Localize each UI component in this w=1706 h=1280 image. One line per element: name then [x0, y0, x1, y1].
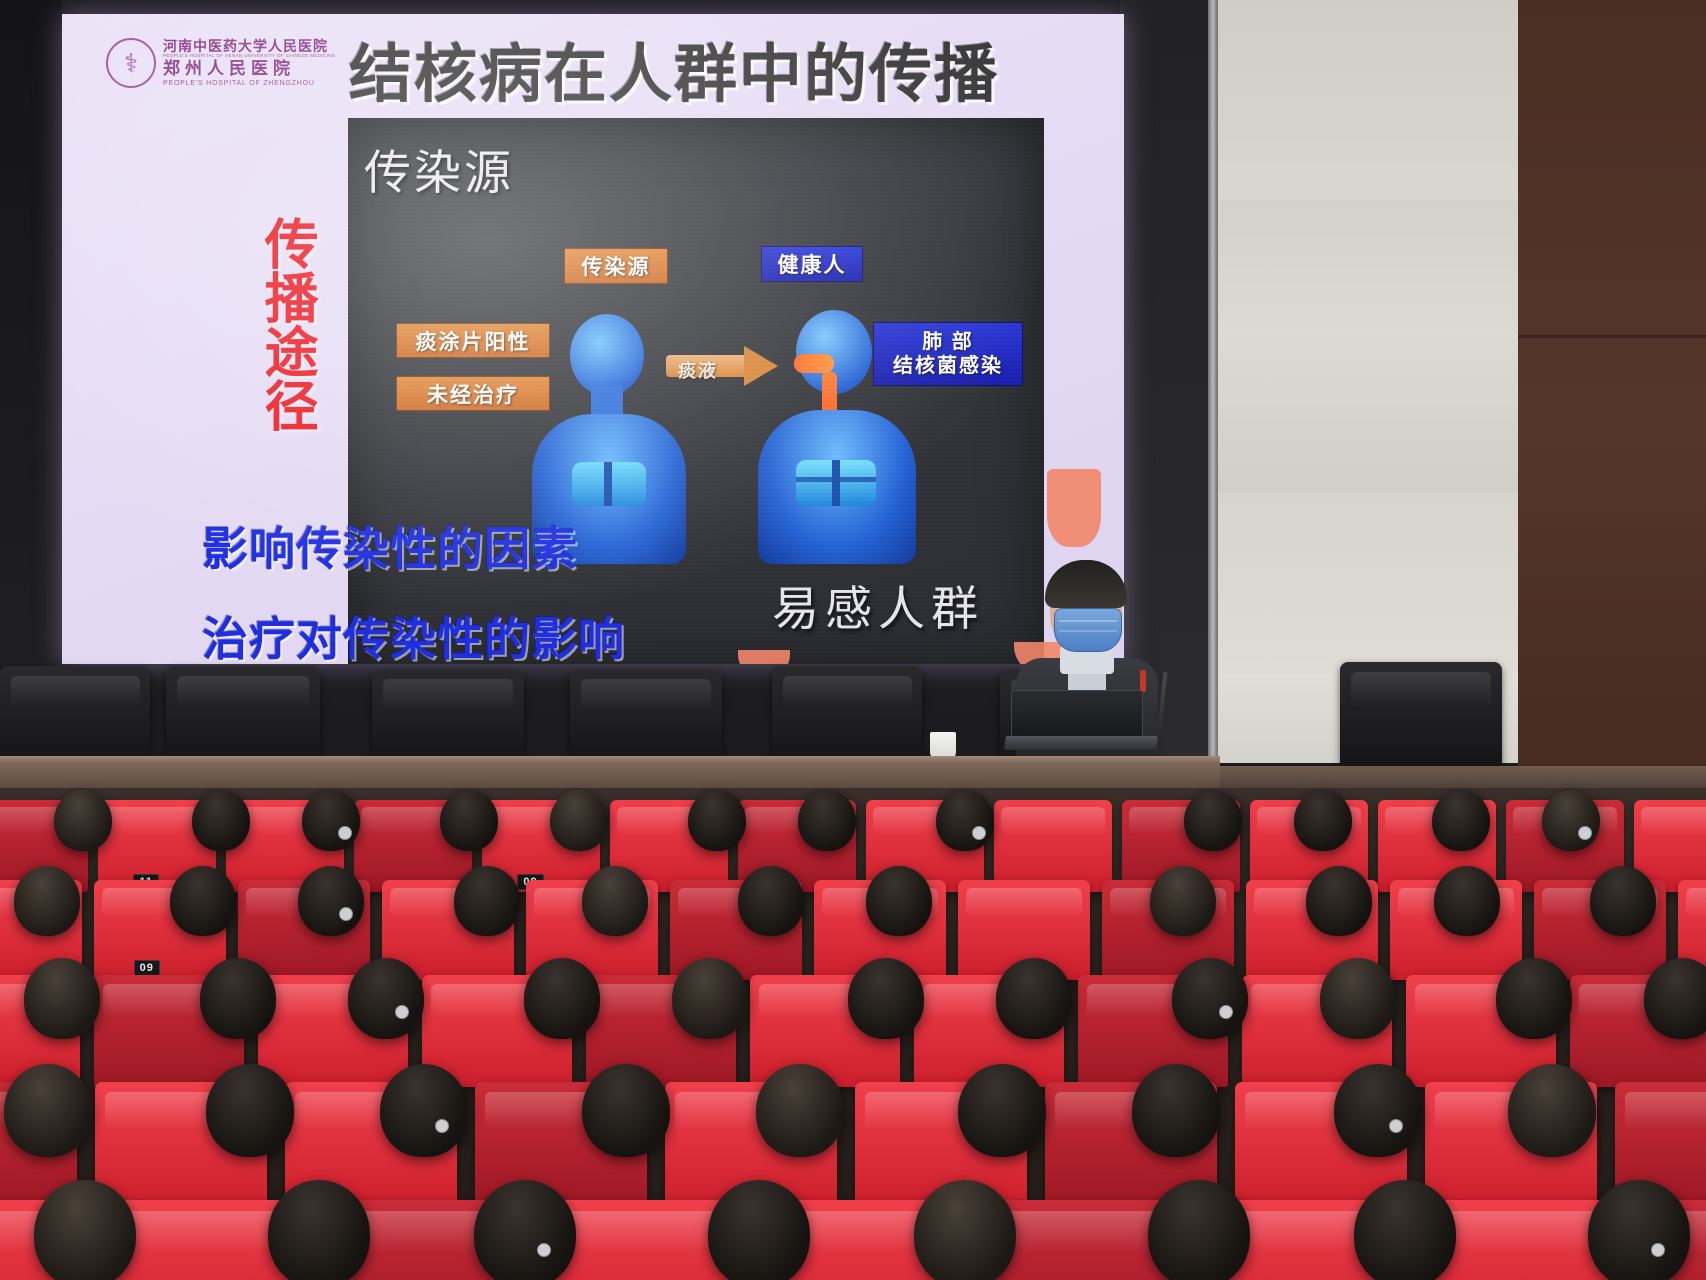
hair-tie: [972, 826, 986, 840]
audience-member-head: [380, 1064, 468, 1157]
audience-member-head: [1172, 958, 1248, 1039]
audience-member-head: [192, 790, 250, 851]
audience-member-head: [996, 958, 1072, 1039]
wall-wood-right: [1518, 0, 1706, 770]
audience-member-head: [170, 866, 236, 936]
audience-member-head: [302, 790, 360, 851]
auditorium-seat: [994, 800, 1112, 892]
audience-member-head: [440, 790, 498, 851]
seat-number-plate: 09: [134, 960, 160, 976]
laptop-keyboard: [1004, 736, 1157, 750]
stage-chair: [1340, 662, 1502, 766]
audience-member-head: [1496, 958, 1572, 1039]
chip-healthy-person: 健康人: [761, 246, 863, 282]
audience-member-head: [454, 866, 520, 936]
figure-throat-right: [822, 372, 837, 426]
audience-member-head: [14, 866, 80, 936]
diagram-panel: 传染源 传染源 健康人 痰涂片阳性 未经治疗 肺 部 结核菌感染 痰液: [348, 118, 1044, 664]
audience-member-head: [756, 1064, 844, 1157]
audience-member-head: [1184, 790, 1242, 851]
projection-screen: ⚕ 河南中医药大学人民医院 PEOPLE'S HOSPITAL OF HENAN…: [62, 14, 1124, 664]
figure-body-right: [758, 410, 916, 564]
audience-member-head: [1432, 790, 1490, 851]
figure-head-left: [570, 314, 644, 396]
audience-member-head: [672, 958, 748, 1039]
figure-mouth-right: [794, 354, 834, 373]
hospital-logo: ⚕ 河南中医药大学人民医院 PEOPLE'S HOSPITAL OF HENAN…: [106, 38, 335, 88]
figure-lung-gap-right: [832, 460, 840, 506]
audience-member-head: [914, 1180, 1016, 1280]
audience-member-head: [798, 790, 856, 851]
audience-member-head: [524, 958, 600, 1039]
audience-member-head: [200, 958, 276, 1039]
presenter-zip-detail: [1140, 670, 1146, 692]
audience-member-head: [206, 1064, 294, 1157]
slide-title: 结核病在人群中的传播: [349, 44, 999, 107]
logo-line-cn-2: 郑州人民医院: [163, 60, 335, 79]
chip-infection-source: 传染源: [564, 248, 668, 284]
hair-tie: [339, 907, 353, 921]
decor-blob-1: [1047, 469, 1101, 547]
audience-member-head: [474, 1180, 576, 1280]
chip-lung-line-1: 肺 部: [922, 330, 974, 354]
laptop: [1005, 690, 1157, 752]
diagram-heading: 传染源: [364, 134, 514, 203]
audience-member-head: [24, 958, 100, 1039]
audience-member-head: [866, 866, 932, 936]
audience-member-head: [1434, 866, 1500, 936]
figure-lungs-right: [796, 460, 876, 506]
decor-blob-2: [738, 650, 790, 664]
logo-line-en-2: PEOPLE'S HOSPITAL OF ZHENGZHOU: [163, 80, 335, 87]
wall-panel-2: [1218, 200, 1518, 328]
transmission-arrow: 痰液: [666, 346, 778, 386]
arrow-label-sputum: 痰液: [678, 357, 718, 383]
audience-member-head: [1132, 1064, 1220, 1157]
audience-member-head: [688, 790, 746, 851]
audience-member-head: [348, 958, 424, 1039]
audience-member-head: [708, 1180, 810, 1280]
figure-lung-line-right: [796, 477, 876, 482]
audience-member-head: [1334, 1064, 1422, 1157]
slide-vertical-red-text: 传播途径: [258, 216, 314, 432]
audience-member-head: [1590, 866, 1656, 936]
audience-member-head: [54, 790, 112, 851]
slide-bottom-line-1: 影响传染性的因素: [202, 526, 578, 572]
audience-member-head: [1150, 866, 1216, 936]
presenter-hair: [1045, 560, 1127, 608]
chip-lung-line-2: 结核菌感染: [893, 354, 1003, 378]
laptop-screen: [1011, 690, 1143, 740]
stage-front-face: [0, 762, 1220, 788]
audience-member-head: [958, 1064, 1046, 1157]
stage-chair: [0, 666, 150, 762]
audience-member-head: [34, 1180, 136, 1280]
audience-member-head: [1542, 790, 1600, 851]
wall-panel-3: [1218, 328, 1518, 493]
hair-tie: [338, 826, 352, 840]
wall-left-strip: [0, 0, 62, 690]
stage-chair: [372, 670, 524, 764]
stage-chair: [772, 666, 922, 762]
hair-tie: [1389, 1119, 1403, 1133]
audience-member-head: [1148, 1180, 1250, 1280]
presenter-face-mask: [1054, 608, 1122, 652]
audience-member-head: [1588, 1180, 1690, 1280]
stage-chair: [570, 670, 722, 764]
hospital-emblem-icon: ⚕: [106, 38, 156, 88]
figure-susceptible-person: [756, 310, 918, 564]
audience-member-head: [582, 1064, 670, 1157]
chip-untreated: 未经治疗: [396, 376, 550, 411]
hair-tie: [435, 1119, 449, 1133]
audience-member-head: [1354, 1180, 1456, 1280]
arrow-head-icon: [744, 346, 778, 386]
wall-panel-1: [1218, 0, 1518, 200]
audience-member-head: [738, 866, 804, 936]
audience-member-head: [582, 866, 648, 936]
audience-member-head: [1644, 958, 1706, 1039]
arrow-body: [666, 355, 748, 377]
diagram-footer-susceptible: 易感人群: [772, 570, 984, 639]
figure-neck-left: [591, 386, 623, 422]
audience-member-head: [1294, 790, 1352, 851]
audience-member-head: [4, 1064, 92, 1157]
audience-member-head: [936, 790, 994, 851]
hair-tie: [1578, 826, 1592, 840]
figure-head-right: [796, 310, 872, 394]
audience-member-head: [1508, 1064, 1596, 1157]
lecture-hall-photo: ⚕ 河南中医药大学人民医院 PEOPLE'S HOSPITAL OF HENAN…: [0, 0, 1706, 1280]
stage-front-face-right: [1220, 766, 1706, 790]
audience-member-head: [298, 866, 364, 936]
chip-lung-infection: 肺 部 结核菌感染: [873, 322, 1023, 386]
audience-member-head: [268, 1180, 370, 1280]
figure-lungs-left: [572, 462, 646, 506]
audience-member-head: [550, 790, 608, 851]
slide-bottom-line-2: 治疗对传染性的影响: [202, 616, 625, 662]
chip-sputum-smear-positive: 痰涂片阳性: [396, 323, 550, 358]
audience-member-head: [1306, 866, 1372, 936]
logo-line-cn-1: 河南中医药大学人民医院: [163, 39, 335, 53]
audience-member-head: [1320, 958, 1396, 1039]
wall-panel-4: [1218, 493, 1518, 673]
stage-chair: [166, 666, 320, 762]
figure-lung-gap-left: [604, 462, 612, 506]
audience-member-head: [848, 958, 924, 1039]
wall-wood-seam: [1518, 335, 1706, 338]
